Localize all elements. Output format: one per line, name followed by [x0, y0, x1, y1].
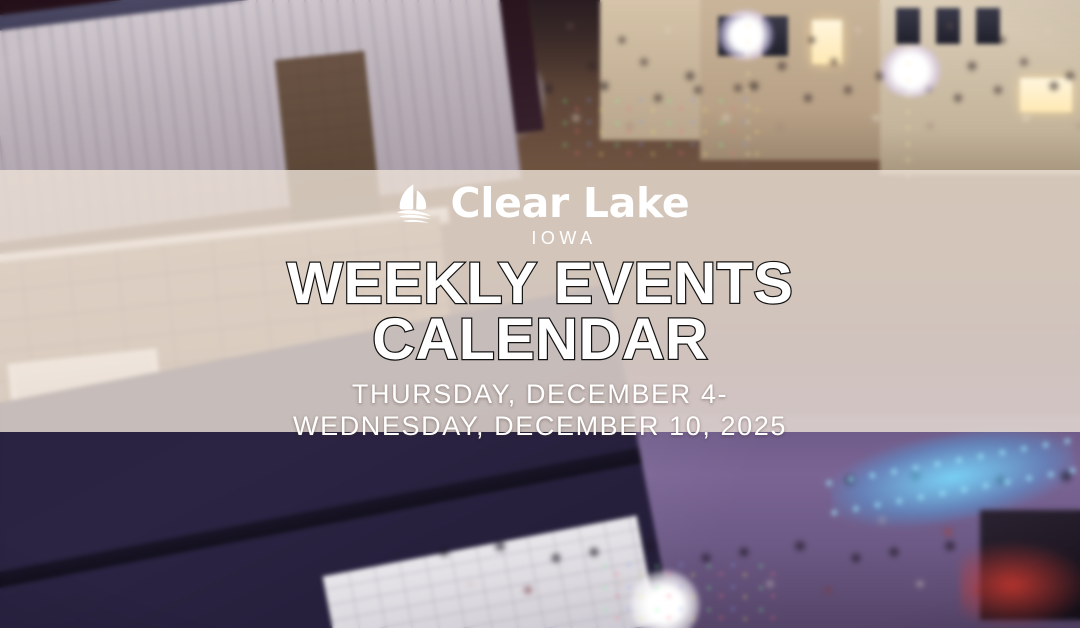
- weekly-events-calendar-poster: Clear Lake IOWA WEEKLY EVENTS CALENDAR T…: [0, 0, 1080, 628]
- colored-string-lights: [560, 95, 760, 165]
- colored-string-lights: [600, 560, 780, 620]
- date-range-line-2: WEDNESDAY, DECEMBER 10, 2025: [293, 411, 787, 443]
- page-title-line-1: WEEKLY EVENTS: [287, 256, 793, 312]
- page-title-line-2: CALENDAR: [287, 312, 793, 368]
- sailboat-waves-icon: [391, 180, 437, 226]
- text-overlay-band: Clear Lake IOWA WEEKLY EVENTS CALENDAR T…: [0, 170, 1080, 432]
- light-garland: [900, 40, 916, 180]
- red-vehicle-lights: [960, 540, 1080, 628]
- brand-name: Clear Lake: [451, 183, 690, 224]
- brand-state: IOWA: [531, 229, 596, 247]
- brand-logo-line: Clear Lake: [391, 180, 690, 226]
- date-range: THURSDAY, DECEMBER 4- WEDNESDAY, DECEMBE…: [293, 379, 787, 443]
- brand-logo: Clear Lake IOWA: [391, 180, 690, 247]
- date-range-line-1: THURSDAY, DECEMBER 4-: [293, 379, 787, 411]
- page-title: WEEKLY EVENTS CALENDAR: [287, 256, 793, 367]
